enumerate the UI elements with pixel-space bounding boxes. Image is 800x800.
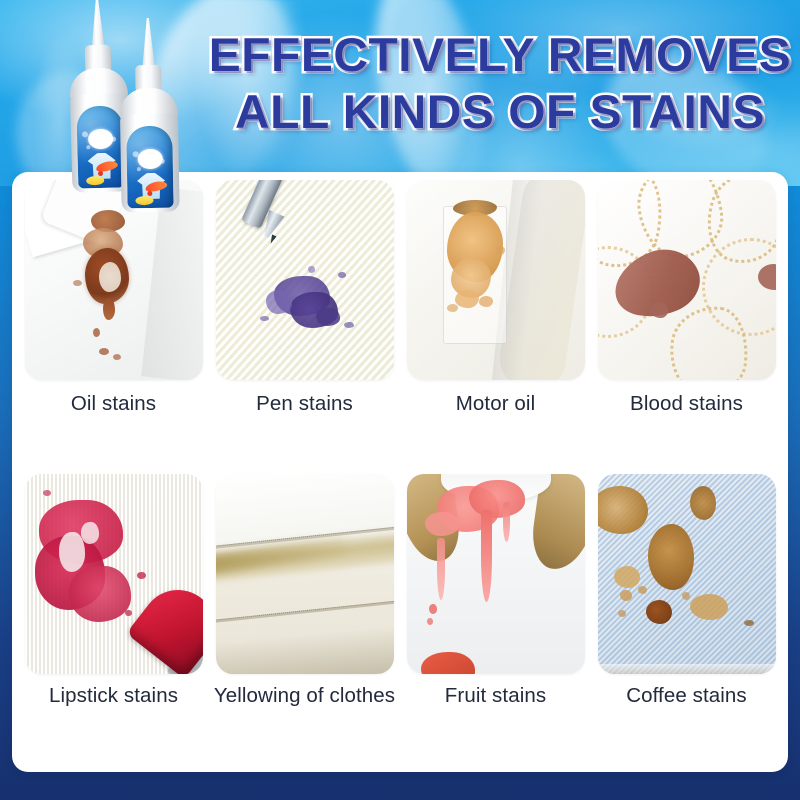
stain-photo-pen-stains [216,180,394,380]
stain-tile-oil-stains[interactable]: Oil stains [18,180,209,474]
stain-tile-yellowing-clothes[interactable]: Yellowing of clothes [209,474,400,768]
collar-lower-shadow [216,625,394,674]
stain-grid: Oil stains Pen stains [12,172,788,772]
oil-stain-droplet [93,328,100,337]
label-bubble-2 [111,137,116,142]
label-bubble-3 [137,167,141,171]
label-yellow-splash [86,176,104,185]
fruit-piece [421,652,475,674]
coffee-droplet [744,620,754,626]
pen-barrel [241,180,292,229]
coffee-droplet [620,590,632,601]
lipstick-smear-highlight [59,532,85,572]
blood-stain-droplet [650,302,668,318]
bottle-label [126,126,173,209]
stain-photo-lipstick-stains [25,474,203,674]
lipstick-speck [125,610,132,616]
fruit-splash [469,480,525,518]
label-bubble-2 [160,159,165,164]
coffee-droplet [638,586,647,594]
stain-caption: Fruit stains [400,683,591,708]
denim-hem [598,664,776,674]
fruit-drip [503,502,510,542]
oil-stain-droplet [99,348,109,355]
lipstick-smear [69,566,131,622]
stain-photo-fruit-stains [407,474,585,674]
product-bottle-right [116,17,181,214]
label-oval-badge [138,149,163,169]
lipstick-bullet [126,575,203,674]
fruit-drip [437,538,445,600]
shirt-shadow [141,187,203,380]
stain-caption: Oil stains [18,391,209,416]
blood-stain-droplet [670,286,679,295]
oil-stain-droplet [113,354,121,360]
advertisement-frame: EFFECTIVELY REMOVES ALL KINDS OF STAINS [0,0,800,800]
oil-stain-droplet [73,280,82,286]
ink-speck [308,266,315,273]
stain-caption: Yellowing of clothes [209,683,400,708]
stain-photo-coffee-stains [598,474,776,674]
stain-caption: Blood stains [591,391,782,416]
coffee-droplet [618,610,626,617]
stain-types-panel: Oil stains Pen stains [12,172,788,772]
fruit-splash [425,512,459,536]
coffee-splatter [690,594,728,620]
stain-photo-yellowing-clothes [216,474,394,674]
bottle-nozzle-tip [141,18,155,70]
coffee-splatter [648,524,694,590]
oil-stain-drip [103,298,115,320]
ink-speck [338,272,346,278]
product-bottles [56,0,226,196]
ink-scribble [316,308,340,326]
coffee-splatter-dark [646,600,672,624]
lipstick-smear-highlight [81,522,99,544]
bottle-nozzle-tip [90,0,104,50]
ink-speck [344,322,354,328]
motor-oil-droplet [455,290,479,308]
lipstick-speck [43,490,51,496]
stain-tile-pen-stains[interactable]: Pen stains [209,180,400,474]
stain-tile-motor-oil[interactable]: Motor oil [400,180,591,474]
stain-caption: Pen stains [209,391,400,416]
fruit-drip [481,510,492,602]
collar-seam-bottom [216,599,394,624]
oil-stain-highlight [99,262,121,292]
stain-photo-blood-stains [598,180,776,380]
stain-caption: Lipstick stains [18,683,209,708]
coffee-splatter [614,566,640,588]
stain-tile-blood-stains[interactable]: Blood stains [591,180,782,474]
stain-caption: Motor oil [400,391,591,416]
label-yellow-splash [135,196,153,205]
coffee-droplet [682,592,690,600]
motor-oil-droplet [479,296,493,307]
lipstick-speck [137,572,146,579]
stain-tile-coffee-stains[interactable]: Coffee stains [591,474,782,768]
fruit-droplet [427,618,433,625]
stain-photo-motor-oil [407,180,585,380]
motor-oil-droplet [447,304,458,312]
ink-speck [260,316,269,321]
stain-tile-fruit-stains[interactable]: Fruit stains [400,474,591,768]
motor-oil-droplet [495,246,505,255]
label-bubble-1 [82,131,88,137]
coffee-splatter [598,486,648,534]
stain-tile-lipstick-stains[interactable]: Lipstick stains [18,474,209,768]
label-oval-badge [88,129,114,150]
label-bubble-3 [86,146,90,150]
coffee-splatter [690,486,716,520]
fruit-droplet [429,604,437,614]
stain-caption: Coffee stains [591,683,782,708]
ink-scribble [266,290,292,314]
